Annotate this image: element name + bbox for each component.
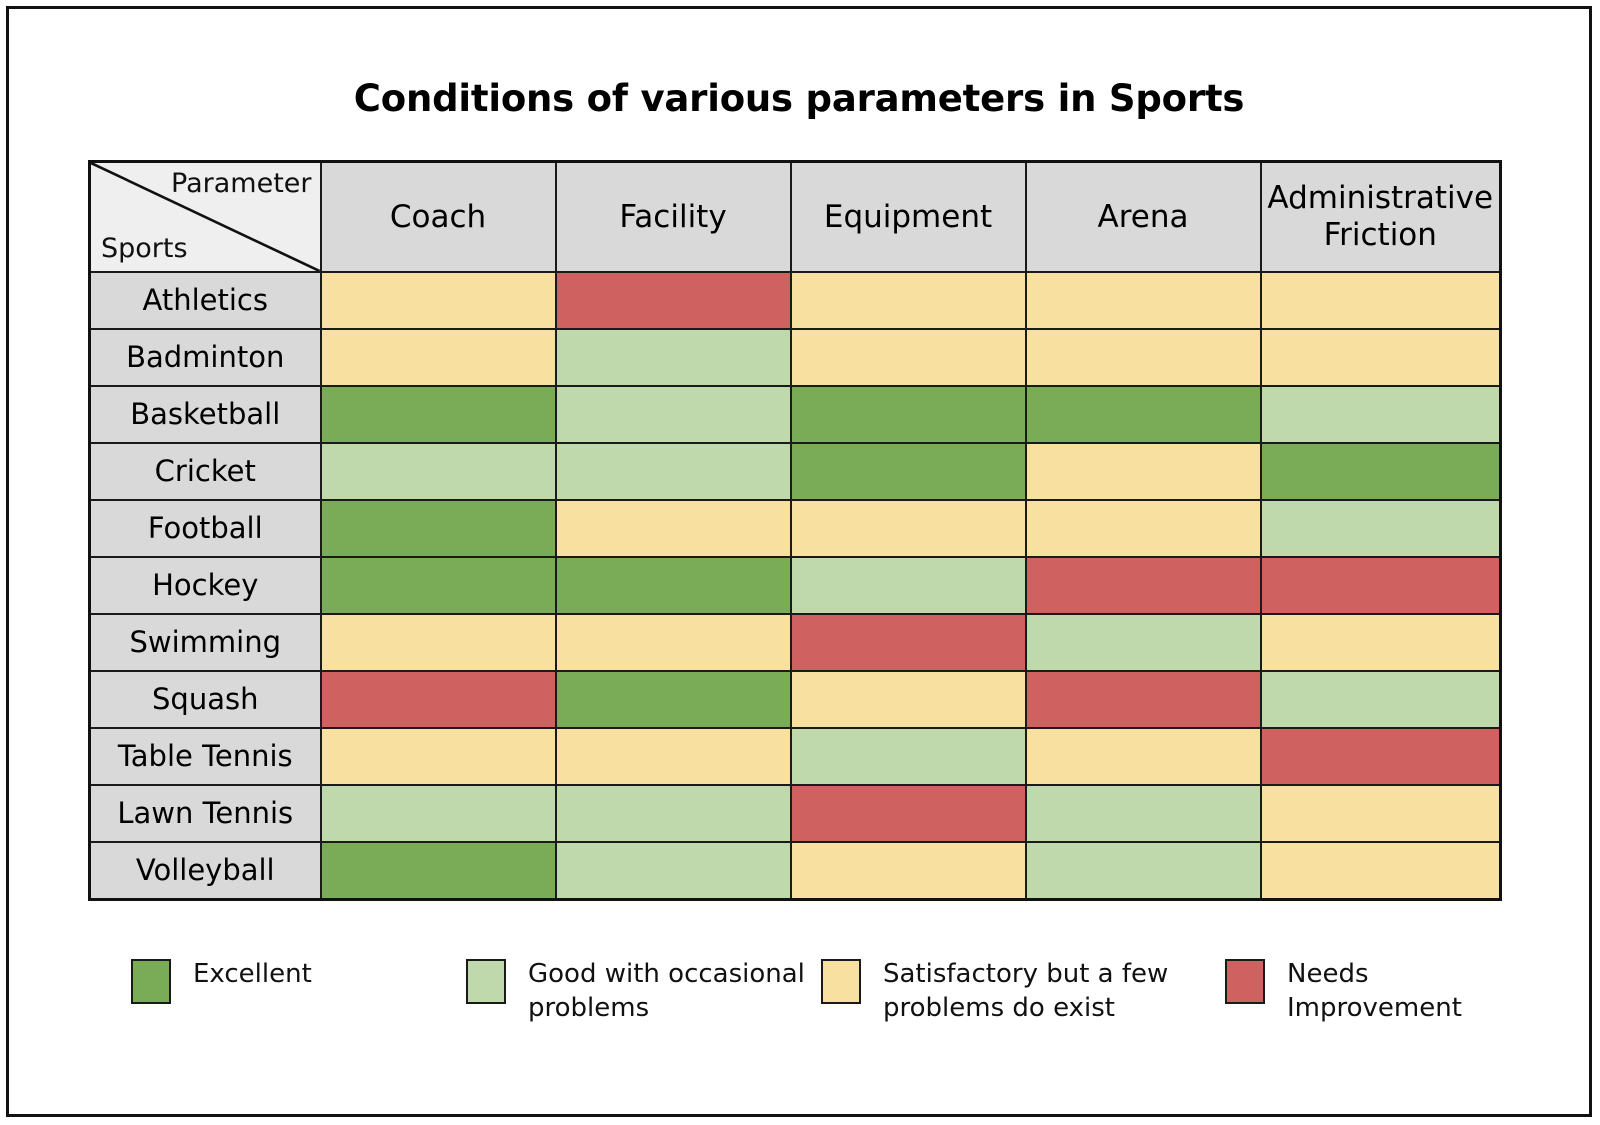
page-title: Conditions of various parameters in Spor… [9,77,1589,120]
row-header-cricket: Cricket [90,443,321,500]
heatmap-cell [556,272,791,329]
column-header-coach: Coach [321,162,556,273]
row-header-table-tennis: Table Tennis [90,728,321,785]
heatmap-cell [321,842,556,900]
heatmap-cell [1026,557,1261,614]
legend-label-satisfactory: Satisfactory but a few problems do exist [883,957,1201,1026]
heatmap-cell [1261,443,1501,500]
heatmap-cell [791,728,1026,785]
heatmap-cell [321,386,556,443]
legend-item-needs: Needs Improvement [1201,957,1525,1026]
heatmap-cell [791,671,1026,728]
column-header-administrative-friction: Administrative Friction [1261,162,1501,273]
heatmap-cell [1261,272,1501,329]
heatmap-cell [1261,500,1501,557]
row-header-athletics: Athletics [90,272,321,329]
row-header-football: Football [90,500,321,557]
legend-label-needs: Needs Improvement [1287,957,1525,1026]
table-row: Athletics [90,272,1501,329]
heatmap-cell [556,785,791,842]
row-header-hockey: Hockey [90,557,321,614]
table-row: Badminton [90,329,1501,386]
table-row: Cricket [90,443,1501,500]
heatmap-cell [791,842,1026,900]
heatmap-cell [1261,785,1501,842]
legend-item-excellent: Excellent [88,957,466,1004]
heatmap-cell [791,614,1026,671]
conditions-table: Parameter Sports Coach Facility Equipmen… [88,160,1502,901]
heatmap-cell [1026,272,1261,329]
heatmap-cell [1026,443,1261,500]
corner-column-axis-label: Parameter [171,170,311,198]
heatmap-cell [791,785,1026,842]
heatmap-cell [1261,557,1501,614]
legend-swatch-good [466,959,506,1004]
heatmap-cell [1261,842,1501,900]
heatmap-cell [321,443,556,500]
legend-item-satisfactory: Satisfactory but a few problems do exist [821,957,1201,1026]
column-header-arena: Arena [1026,162,1261,273]
corner-axis-cell: Parameter Sports [90,162,321,273]
heatmap-cell [556,500,791,557]
row-header-swimming: Swimming [90,614,321,671]
heatmap-cell [1026,785,1261,842]
header-row: Parameter Sports Coach Facility Equipmen… [90,162,1501,273]
heatmap-cell [556,842,791,900]
legend: ExcellentGood with occasional problemsSa… [88,957,1518,1026]
heatmap-cell [791,443,1026,500]
heatmap-cell [556,671,791,728]
legend-label-excellent: Excellent [193,957,312,991]
table-row: Hockey [90,557,1501,614]
heatmap-cell [1026,614,1261,671]
heatmap-cell [321,272,556,329]
heatmap-cell [1261,614,1501,671]
table-row: Lawn Tennis [90,785,1501,842]
column-header-facility: Facility [556,162,791,273]
heatmap-cell [791,272,1026,329]
legend-label-good: Good with occasional problems [528,957,821,1026]
heatmap-cell [1026,671,1261,728]
column-header-equipment: Equipment [791,162,1026,273]
heatmap-cell [791,329,1026,386]
table-row: Volleyball [90,842,1501,900]
table-row: Squash [90,671,1501,728]
heatmap-cell [1261,671,1501,728]
row-header-volleyball: Volleyball [90,842,321,900]
heatmap-cell [556,386,791,443]
legend-swatch-needs [1225,959,1265,1004]
row-header-basketball: Basketball [90,386,321,443]
heatmap-cell [1261,728,1501,785]
table-row: Football [90,500,1501,557]
table-head: Parameter Sports Coach Facility Equipmen… [90,162,1501,273]
heatmap-cell [1026,329,1261,386]
heatmap-cell [321,785,556,842]
heatmap-cell [1026,500,1261,557]
table-row: Table Tennis [90,728,1501,785]
heatmap-cell [791,500,1026,557]
heatmap-cell [321,500,556,557]
row-header-badminton: Badminton [90,329,321,386]
heatmap-cell [556,728,791,785]
heatmap-cell [321,329,556,386]
table-body: AthleticsBadmintonBasketballCricketFootb… [90,272,1501,900]
heatmap-cell [1026,386,1261,443]
heatmap-matrix: Parameter Sports Coach Facility Equipmen… [88,160,1495,901]
heatmap-cell [321,614,556,671]
heatmap-cell [321,671,556,728]
legend-swatch-satisfactory [821,959,861,1004]
table-row: Swimming [90,614,1501,671]
table-row: Basketball [90,386,1501,443]
heatmap-cell [321,557,556,614]
heatmap-cell [1026,842,1261,900]
legend-swatch-excellent [131,959,171,1004]
legend-item-good: Good with occasional problems [466,957,821,1026]
heatmap-cell [1261,329,1501,386]
figure-frame: Conditions of various parameters in Spor… [6,6,1592,1117]
row-header-lawn-tennis: Lawn Tennis [90,785,321,842]
heatmap-cell [1026,728,1261,785]
row-header-squash: Squash [90,671,321,728]
corner-row-axis-label: Sports [101,235,188,263]
heatmap-cell [556,557,791,614]
heatmap-cell [791,557,1026,614]
heatmap-cell [321,728,556,785]
heatmap-cell [791,386,1026,443]
heatmap-cell [1261,386,1501,443]
heatmap-cell [556,614,791,671]
heatmap-cell [556,443,791,500]
heatmap-cell [556,329,791,386]
